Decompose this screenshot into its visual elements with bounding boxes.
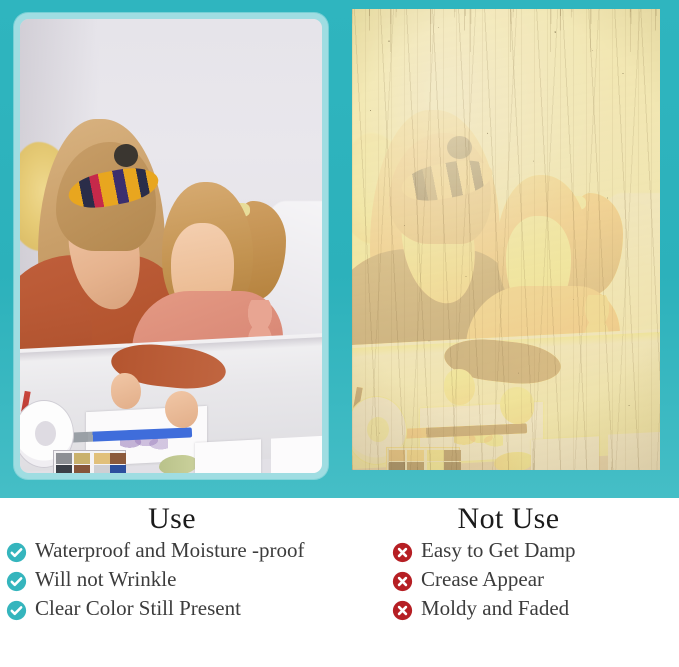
aged-vignette-overlay [352,9,660,470]
check-circle-icon [6,571,27,592]
comparison-panel: Use Waterproof and Moisture -proof [0,498,679,667]
paint-pan [110,465,126,473]
photo-scene-color [20,19,322,473]
list-item-label: Easy to Get Damp [421,538,576,563]
list-item-label: Will not Wrinkle [35,567,176,592]
not-use-column-title: Not Use [344,502,679,536]
scene-child-hand-left [111,373,141,409]
paint-pan [74,453,90,464]
not-use-drawback-list: Easy to Get Damp Crease Appear [344,538,679,621]
list-item: Will not Wrinkle [0,567,344,592]
list-item-label: Waterproof and Moisture -proof [35,538,304,563]
list-item-label: Crease Appear [421,567,544,592]
photo-comparison-banner [0,0,679,498]
paint-pan [74,465,90,473]
paint-pan [110,453,126,464]
x-circle-icon [392,542,413,563]
list-item: Crease Appear [344,567,679,592]
list-item-label: Moldy and Faded [421,596,569,621]
use-column-title: Use [0,502,344,536]
check-circle-icon [6,542,27,563]
use-column: Use Waterproof and Moisture -proof [0,498,344,667]
list-item: Easy to Get Damp [344,538,679,563]
scene-paper-sheet [195,439,261,473]
paint-pan [94,465,110,473]
list-item: Clear Color Still Present [0,596,344,621]
scene-child-hand-right [165,391,198,427]
scene-leaf [159,455,198,473]
list-item: Moldy and Faded [344,596,679,621]
not-use-column: Not Use Easy to Get Damp [344,498,679,667]
damaged-photo [352,9,660,470]
use-benefit-list: Waterproof and Moisture -proof Will not … [0,538,344,621]
x-circle-icon [392,600,413,621]
list-item-label: Clear Color Still Present [35,596,241,621]
check-circle-icon [6,600,27,621]
scene-mother-bun [114,144,138,167]
good-condition-photo [20,19,322,473]
paint-pan [94,453,110,464]
scene-palette-thumbhole [35,421,56,446]
good-photo-frame [14,13,328,479]
scene-paint-box [53,450,125,473]
list-item: Waterproof and Moisture -proof [0,538,344,563]
x-circle-icon [392,571,413,592]
aged-photo-wrapper [352,9,660,470]
paint-pan [56,465,72,473]
paint-pan [56,453,72,464]
comparison-infographic: Use Waterproof and Moisture -proof [0,0,679,667]
scene-paper-sheet [271,435,322,473]
